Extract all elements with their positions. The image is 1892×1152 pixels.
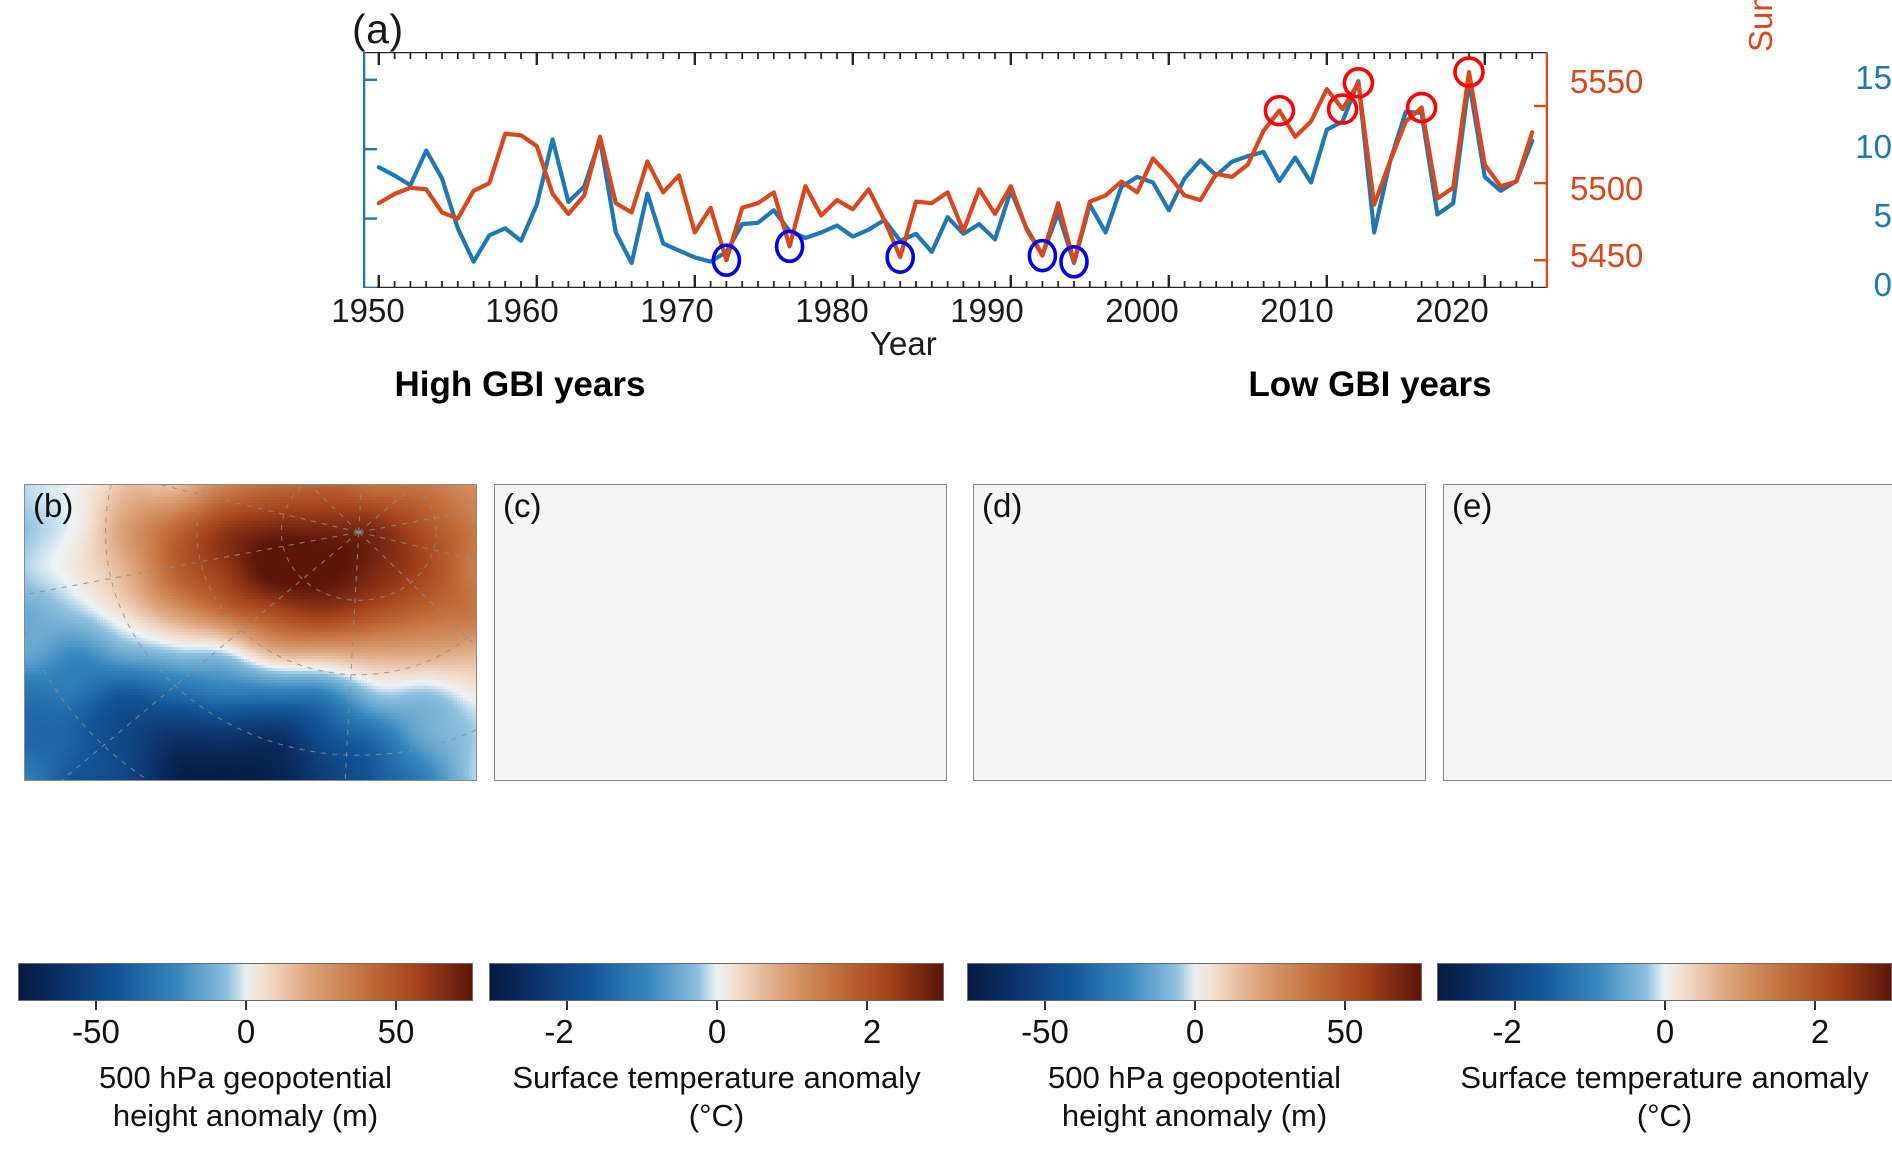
colorbar-b-caption: 500 hPa geopotential height anomaly (m) [18, 1059, 473, 1135]
colorbar-b-gradient [18, 963, 473, 1001]
map-e-svg [1444, 485, 1892, 780]
colorbar-c-caption: Surface temperature anomaly (°C) [489, 1059, 944, 1135]
colorbar-d-label-0: -50 [1021, 1013, 1069, 1051]
colorbar-d-label-1: 0 [1186, 1013, 1204, 1051]
ytick-left-10: 10 [1562, 128, 1892, 166]
colorbar-e-label-0: -2 [1492, 1013, 1521, 1051]
group-title-low: Low GBI years [1000, 365, 1740, 405]
colorbar-c-gradient [489, 963, 944, 1001]
panel-d-tag: (d) [982, 487, 1022, 525]
xtick-2000: 2000 [1062, 292, 1222, 330]
colorbar-b-caption-line2: height anomaly (m) [18, 1097, 473, 1135]
panel-b-tag: (b) [33, 487, 73, 525]
map-panel-c-tsfc-high: (c) [494, 484, 947, 781]
group-title-high: High GBI years [150, 365, 890, 405]
colorbar-b-tick-0 [95, 1001, 97, 1010]
xtick-1970: 1970 [597, 292, 757, 330]
colorbar-b-tick-1 [245, 1001, 247, 1010]
xtick-1950: 1950 [288, 292, 448, 330]
colorbar-e-label-1: 0 [1656, 1013, 1674, 1051]
figure-root: (a) Annual runoff (Mt a⁻¹) Summer GBI (m… [0, 0, 1892, 1152]
map-panel-d-z500-low: (d) [973, 484, 1426, 781]
xtick-1980: 1980 [752, 292, 912, 330]
colorbar-d-tick-2 [1344, 1001, 1346, 1010]
colorbar-d-gradient [967, 963, 1422, 1001]
xtick-2020: 2020 [1372, 292, 1532, 330]
colorbar-d-tick-1 [1194, 1001, 1196, 1010]
colorbar-c-tick-0 [566, 1001, 568, 1010]
colorbar-e-caption-line2: (°C) [1437, 1097, 1892, 1135]
colorbar-e-caption-line1: Surface temperature anomaly [1437, 1059, 1892, 1097]
xtick-1960: 1960 [442, 292, 602, 330]
colorbar-e-tick-2 [1814, 1001, 1816, 1010]
colorbar-b-caption-line1: 500 hPa geopotential [18, 1059, 473, 1097]
colorbar-b-tick-2 [395, 1001, 397, 1010]
ytick-right-5550: 5550 [1570, 63, 1643, 101]
map-d-svg [974, 485, 1425, 780]
colorbar-e-tick-1 [1664, 1001, 1666, 1010]
xtick-2010: 2010 [1217, 292, 1377, 330]
colorbar-d-caption-line2: height anomaly (m) [967, 1097, 1422, 1135]
ytick-right-5450: 5450 [1570, 237, 1643, 275]
colorbar-b-label-1: 0 [237, 1013, 255, 1051]
colorbar-d-caption-line1: 500 hPa geopotential [967, 1059, 1422, 1097]
colorbar-c-tick-1 [716, 1001, 718, 1010]
colorbar-d-tick-0 [1044, 1001, 1046, 1010]
colorbar-c-caption-line1: Surface temperature anomaly [489, 1059, 944, 1097]
colorbar-e-gradient [1437, 963, 1892, 1001]
panel-e-tag: (e) [1452, 487, 1492, 525]
timeseries-svg [363, 52, 1548, 288]
colorbar-b-label-2: 50 [378, 1013, 415, 1051]
colorbar-c-label-0: -2 [544, 1013, 573, 1051]
colorbar-d-label-2: 50 [1327, 1013, 1364, 1051]
x-axis-label: Year [870, 325, 937, 363]
colorbar-e-label-2: 2 [1811, 1013, 1829, 1051]
xtick-1990: 1990 [907, 292, 1067, 330]
ytick-right-5500: 5500 [1570, 170, 1643, 208]
panel-a-timeseries: (a) Annual runoff (Mt a⁻¹) Summer GBI (m… [0, 0, 1892, 372]
y-axis-label-left: Annual runoff (Mt a⁻¹) [0, 0, 3, 168]
colorbar-c-label-1: 0 [708, 1013, 726, 1051]
colorbar-c-label-2: 2 [863, 1013, 881, 1051]
map-panel-e-tsfc-low: (e) [1443, 484, 1892, 781]
panel-c-tag: (c) [503, 487, 541, 525]
colorbar-e-caption: Surface temperature anomaly (°C) [1437, 1059, 1892, 1135]
colorbar-b-label-0: -50 [72, 1013, 120, 1051]
colorbar-e-tick-0 [1514, 1001, 1516, 1010]
map-b-svg [25, 485, 476, 780]
panel-a-tag: (a) [352, 6, 404, 53]
map-panel-b-z500-high: (b) [24, 484, 477, 781]
colorbar-d-caption: 500 hPa geopotential height anomaly (m) [967, 1059, 1422, 1135]
timeseries-plot-area [363, 52, 1548, 288]
y-axis-label-right: Summer GBI (m) [1742, 0, 1780, 52]
colorbar-c-tick-2 [866, 1001, 868, 1010]
map-c-svg [495, 485, 946, 780]
colorbar-c-caption-line2: (°C) [489, 1097, 944, 1135]
